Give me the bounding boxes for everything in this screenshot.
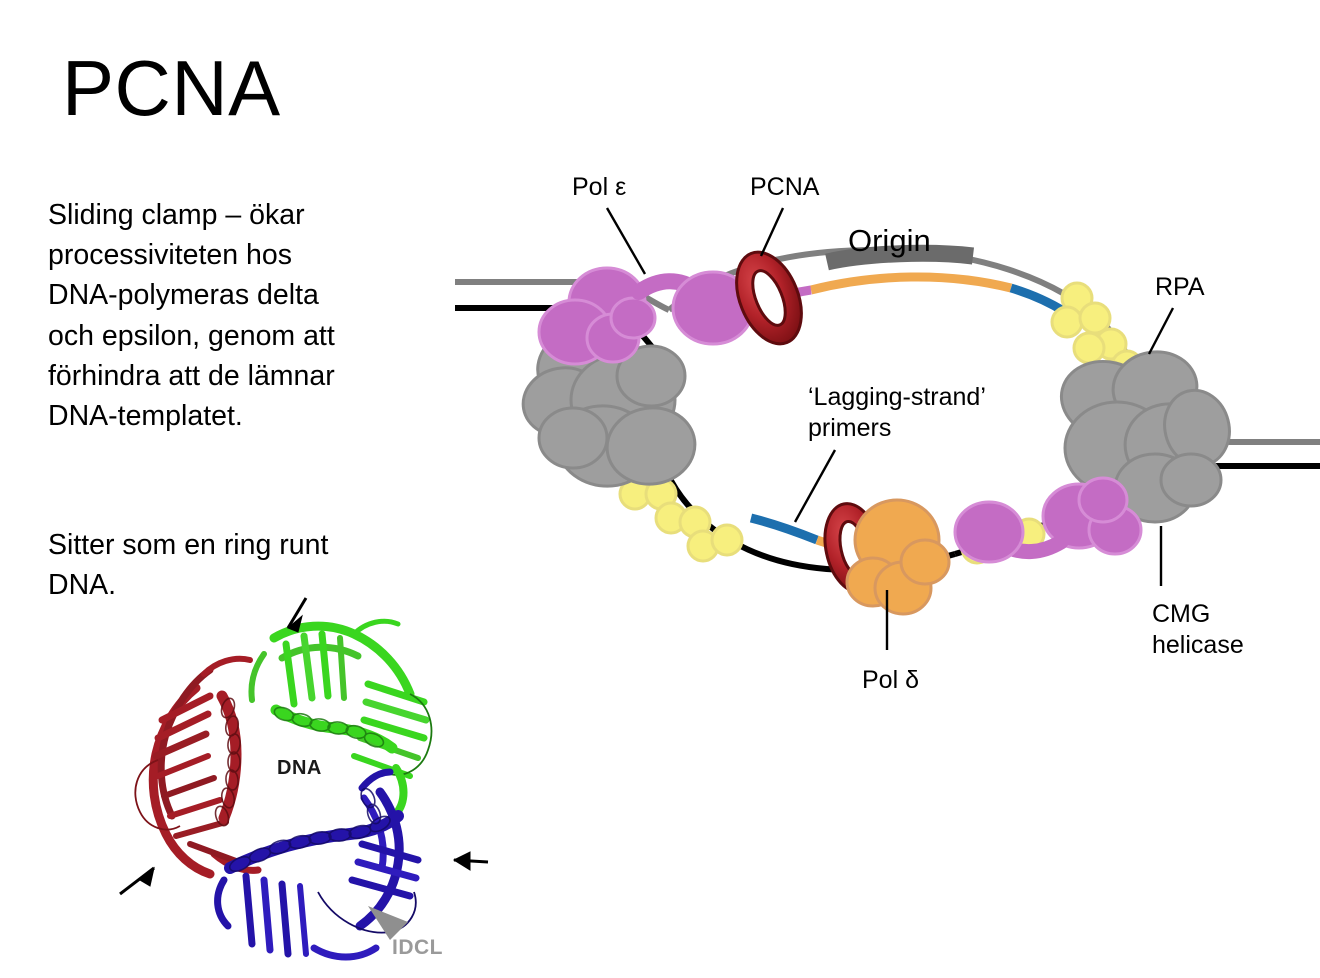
diagram-label-pcna: PCNA: [750, 172, 819, 203]
structure-label-dna: DNA: [277, 757, 322, 780]
pcna-trimer-structure-image: [118, 592, 490, 978]
diagram-label-pol-delta: Pol δ: [862, 665, 919, 696]
page-title: PCNA: [62, 48, 281, 130]
diagram-label-lagging-primers: ‘Lagging-strand’ primers: [808, 382, 986, 443]
body-paragraph-1: Sliding clamp – ökar processiviteten hos…: [48, 195, 358, 436]
structure-label-idcl: IDCL: [392, 936, 443, 960]
diagram-label-pol-epsilon: Pol ε: [572, 172, 626, 203]
slide-canvas: PCNA Sliding clamp – ökar processivitete…: [0, 0, 1320, 978]
diagram-label-origin: Origin: [848, 222, 931, 260]
diagram-label-cmg-helicase: CMG helicase: [1152, 599, 1244, 660]
diagram-label-rpa: RPA: [1155, 272, 1205, 303]
